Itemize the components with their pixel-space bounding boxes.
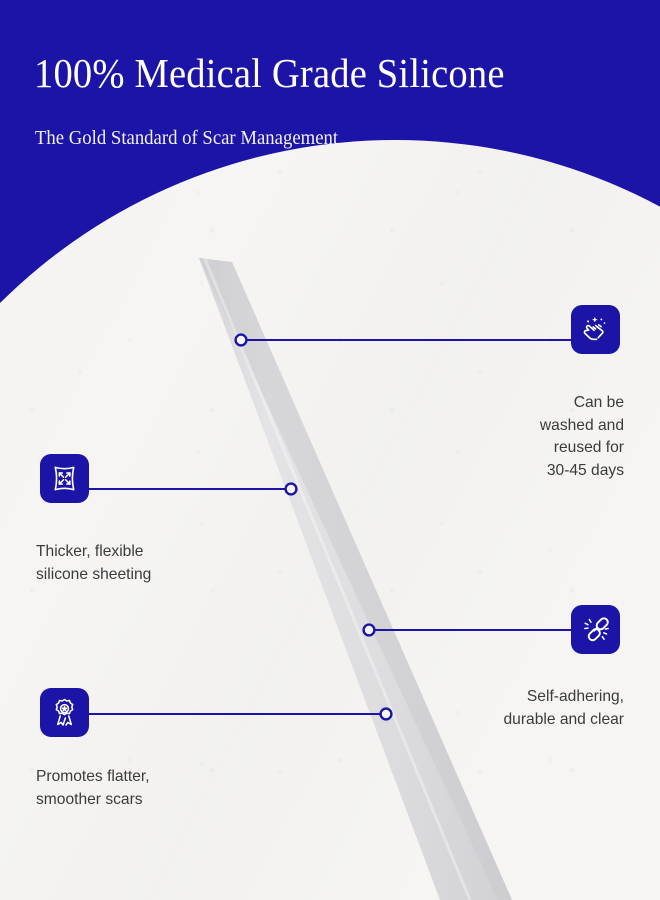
page-subtitle: The Gold Standard of Scar Management <box>35 124 338 154</box>
feature-icon-adhesion[interactable] <box>571 605 620 654</box>
feature-icon-thickness[interactable] <box>40 454 89 503</box>
feature-icon-results[interactable] <box>40 688 89 737</box>
feature-icon-washable[interactable] <box>571 305 620 354</box>
award-ribbon-icon <box>49 697 80 728</box>
flexible-sheet-icon <box>49 463 80 494</box>
feature-caption-results: Promotes flatter, smoother scars <box>36 766 266 811</box>
feature-caption-washable: Can be washed and reused for 30-45 days <box>420 392 624 482</box>
chain-link-icon <box>580 614 611 645</box>
feature-caption-adhesion: Self-adhering, durable and clear <box>400 686 624 731</box>
infographic-canvas: 100% Medical Grade Silicone The Gold Sta… <box>0 0 660 900</box>
washing-hands-icon <box>580 314 611 345</box>
feature-caption-thickness: Thicker, flexible silicone sheeting <box>36 541 266 586</box>
page-title: 100% Medical Grade Silicone <box>34 52 505 95</box>
